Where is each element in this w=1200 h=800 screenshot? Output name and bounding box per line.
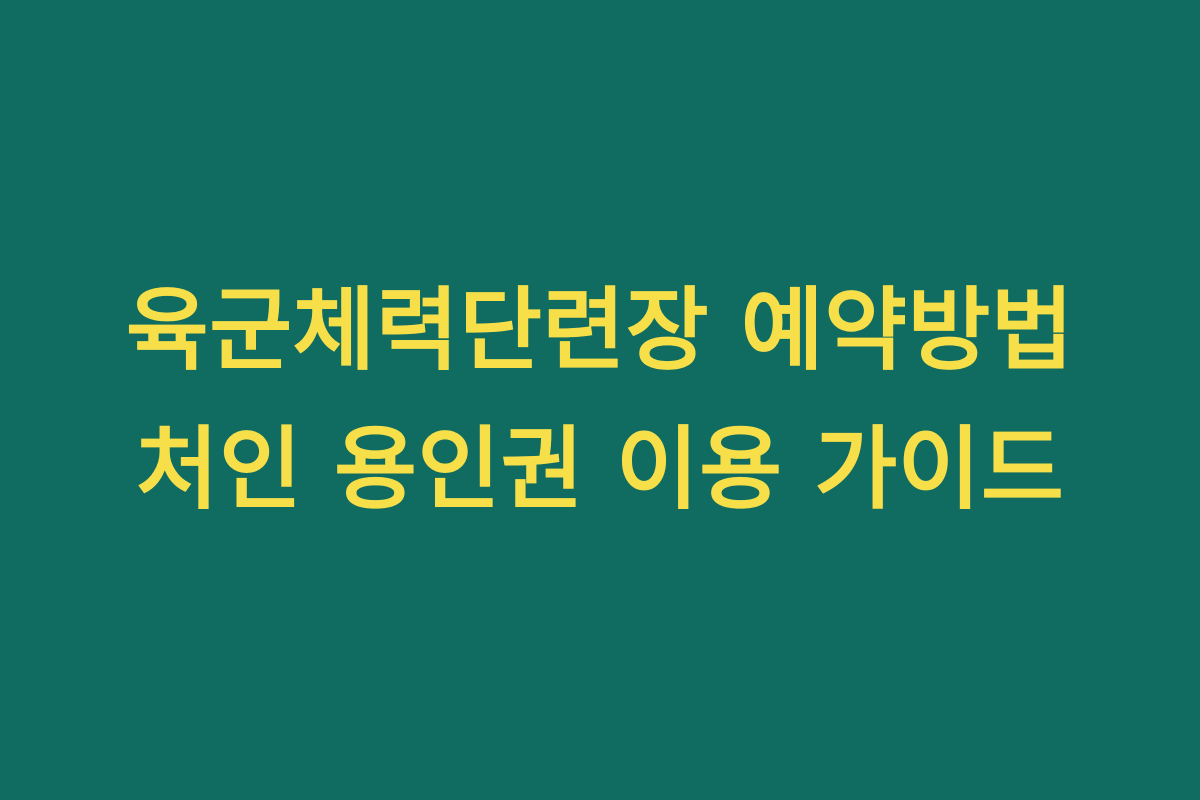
title-thumbnail-card: 육군체력단련장 예약방법 처인 용인권 이용 가이드 bbox=[0, 0, 1200, 800]
title-block: 육군체력단련장 예약방법 처인 용인권 이용 가이드 bbox=[100, 261, 1100, 540]
page-title: 육군체력단련장 예약방법 처인 용인권 이용 가이드 bbox=[100, 261, 1100, 540]
